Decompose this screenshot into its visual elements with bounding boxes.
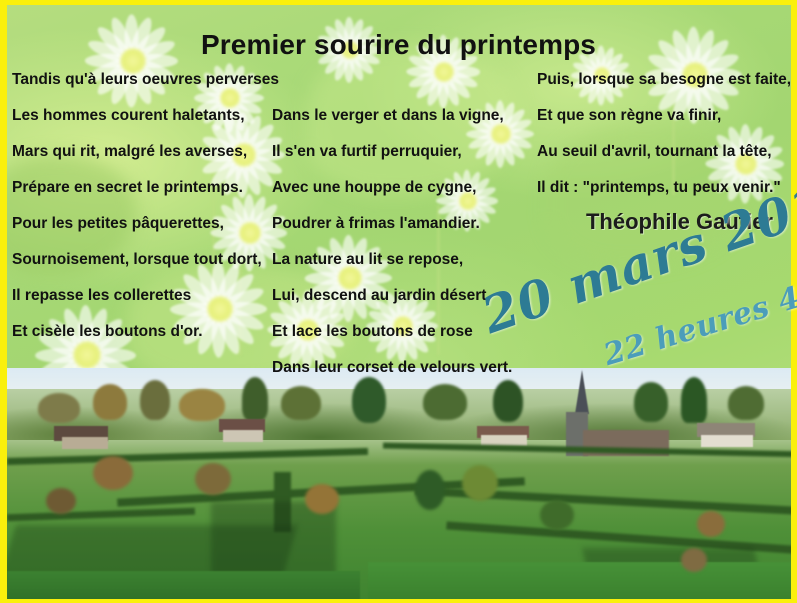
tree	[634, 382, 668, 422]
poem-line: Il s'en va furtif perruquier,	[272, 134, 522, 170]
poem-line: Poudrer à frimas l'amandier.	[272, 206, 522, 242]
poem-line: Avec une houppe de cygne,	[272, 170, 522, 206]
tree	[179, 389, 225, 421]
poem-line: Puis, lorsque sa besogne est faite,	[537, 62, 789, 98]
poem-line: Les hommes courent haletants,	[12, 98, 272, 134]
tree	[305, 484, 339, 514]
poem-author: Théophile Gautier	[537, 209, 789, 235]
poem-line: Sournoisement, lorsque tout dort,	[12, 242, 272, 278]
poem-column-right: Puis, lorsque sa besogne est faite,Et qu…	[537, 62, 789, 206]
poem-line: Prépare en secret le printemps.	[12, 170, 272, 206]
tree	[38, 393, 80, 423]
tree	[697, 511, 725, 537]
hedgerow	[7, 448, 368, 465]
poem-line: Et cisèle les boutons d'or.	[12, 314, 272, 350]
tree	[242, 377, 268, 421]
poem-column-middle: Dans le verger et dans la vigne,Il s'en …	[272, 98, 522, 386]
church-steeple	[575, 370, 589, 414]
poem-line: Dans le verger et dans la vigne,	[272, 98, 522, 134]
tree	[140, 380, 170, 420]
hedgerow	[7, 508, 195, 522]
tree	[281, 386, 321, 420]
poem-line: Tandis qu'à leurs oeuvres perverses	[12, 62, 272, 98]
tree	[728, 386, 764, 420]
field	[368, 562, 791, 599]
poem-line: Au seuil d'avril, tournant la tête,	[537, 134, 789, 170]
greeting-card: Premier sourire du printemps Tandis qu'à…	[0, 0, 797, 603]
poem-line: Et lace les boutons de rose	[272, 314, 522, 350]
tree	[93, 456, 133, 490]
tree	[462, 465, 498, 501]
tree	[681, 377, 707, 423]
tree	[540, 500, 574, 530]
poem-line: Il repasse les collerettes	[12, 278, 272, 314]
poem-line: La nature au lit se repose,	[272, 242, 522, 278]
poem-line: Dans leur corset de velours vert.	[272, 350, 522, 386]
tree	[93, 384, 127, 420]
poem-line: Mars qui rit, malgré les averses,	[12, 134, 272, 170]
poem-column-left: Tandis qu'à leurs oeuvres perversesLes h…	[12, 62, 272, 350]
house	[223, 430, 263, 442]
poem-line: Il dit : "printemps, tu peux venir."	[537, 170, 789, 206]
tree	[195, 463, 231, 495]
poem-line: Lui, descend au jardin désert	[272, 278, 522, 314]
poem-line: Et que son règne va finir,	[537, 98, 789, 134]
page-title: Premier sourire du printemps	[0, 29, 797, 61]
landscape-photograph	[7, 368, 791, 599]
tree	[46, 488, 76, 514]
tree	[415, 470, 445, 510]
house	[701, 435, 753, 447]
poem-line: Pour les petites pâquerettes,	[12, 206, 272, 242]
tree	[423, 384, 467, 420]
field	[7, 571, 360, 599]
barn	[62, 437, 108, 449]
